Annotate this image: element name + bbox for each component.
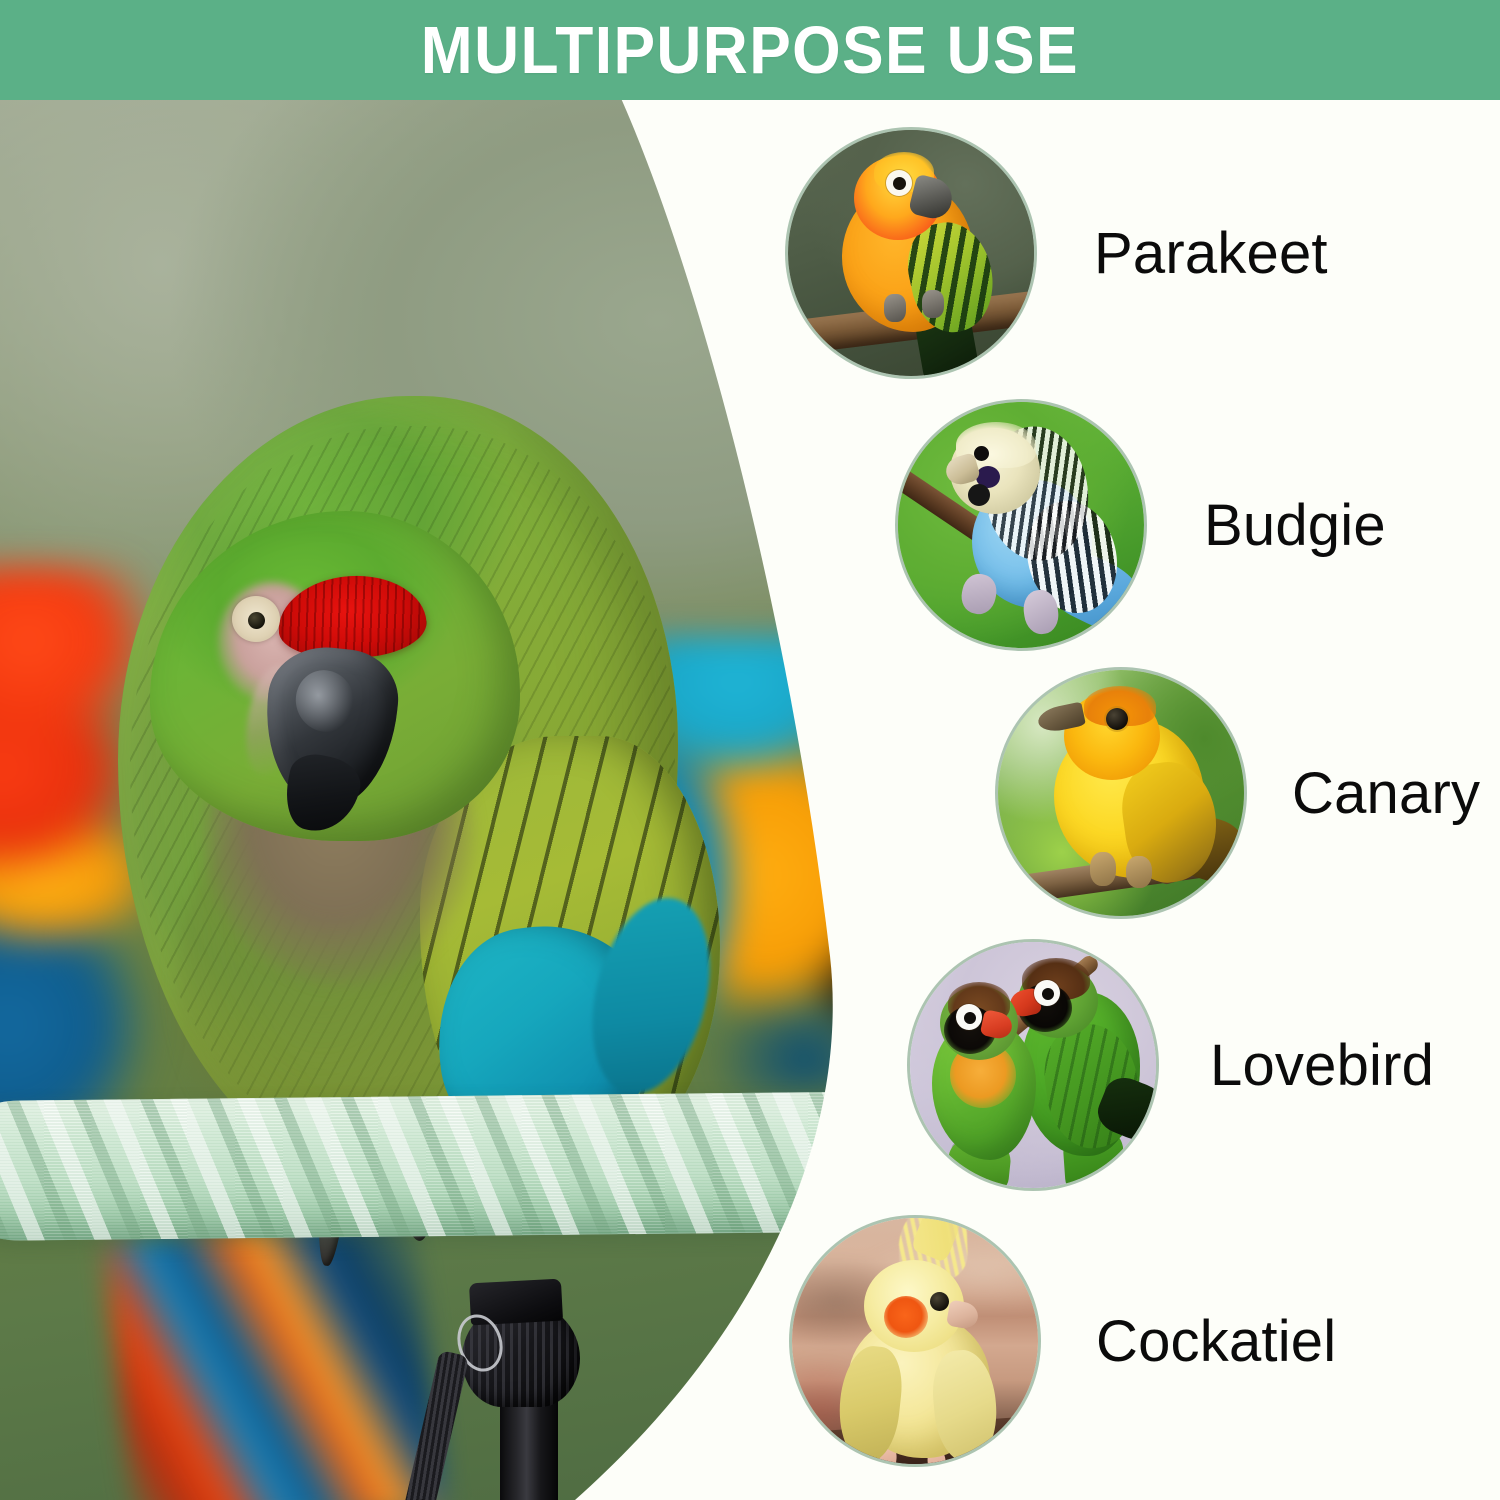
cockatiel-orange-cheek-patch xyxy=(884,1296,928,1338)
blurred-scarlet-macaw-tail xyxy=(105,1211,445,1500)
hero-photo-background xyxy=(0,96,890,1500)
canary-foot-right xyxy=(1126,856,1152,888)
cockatiel-thumbnail[interactable] xyxy=(792,1218,1038,1464)
bird-label-lovebird: Lovebird xyxy=(1210,1032,1434,1099)
bird-label-budgie: Budgie xyxy=(1204,492,1386,559)
rope-fiber-texture xyxy=(0,1091,890,1241)
parakeet-photo-background xyxy=(788,130,1034,376)
parakeet-pupil xyxy=(893,177,906,190)
infographic-page: MULTIPURPOSE USE xyxy=(0,0,1500,1500)
canary-thumbnail[interactable] xyxy=(998,670,1244,916)
hero-photo-panel xyxy=(0,96,890,1500)
list-item[interactable]: Budgie xyxy=(898,402,1386,648)
parakeet-foot-left xyxy=(884,294,906,322)
bird-label-parakeet: Parakeet xyxy=(1094,220,1328,287)
budgie-eye xyxy=(974,446,989,461)
budgie-throat-spot xyxy=(968,484,990,506)
list-item[interactable]: Lovebird xyxy=(910,942,1434,1188)
lovebird-right-pupil xyxy=(1042,988,1054,1000)
budgie-branch-upper xyxy=(1115,402,1144,484)
header-banner: MULTIPURPOSE USE xyxy=(0,0,1500,100)
budgie-thumbnail[interactable] xyxy=(898,402,1144,648)
bird-label-cockatiel: Cockatiel xyxy=(1096,1308,1336,1375)
bird-list-panel: Parakeet xyxy=(760,100,1500,1500)
budgie-photo-background xyxy=(898,402,1144,648)
lovebird-left-pupil xyxy=(964,1012,976,1024)
canary-eye xyxy=(1106,708,1128,730)
lovebird-photo-background xyxy=(910,942,1156,1188)
parakeet-foot-right xyxy=(922,290,944,318)
stand-pole xyxy=(500,1396,558,1500)
bird-label-canary: Canary xyxy=(1292,760,1480,827)
list-item[interactable]: Parakeet xyxy=(788,130,1328,376)
cockatiel-eye xyxy=(930,1292,949,1311)
macaw-pupil xyxy=(248,612,265,629)
list-item[interactable]: Cockatiel xyxy=(792,1218,1336,1464)
list-item[interactable]: Canary xyxy=(998,670,1480,916)
canary-foot-left xyxy=(1090,852,1116,886)
lovebird-thumbnail[interactable] xyxy=(910,942,1156,1188)
cockatiel-photo-background xyxy=(792,1218,1038,1464)
rope-perch xyxy=(0,1091,890,1241)
banner-title: MULTIPURPOSE USE xyxy=(421,12,1079,89)
canary-photo-background xyxy=(998,670,1244,916)
parakeet-thumbnail[interactable] xyxy=(788,130,1034,376)
